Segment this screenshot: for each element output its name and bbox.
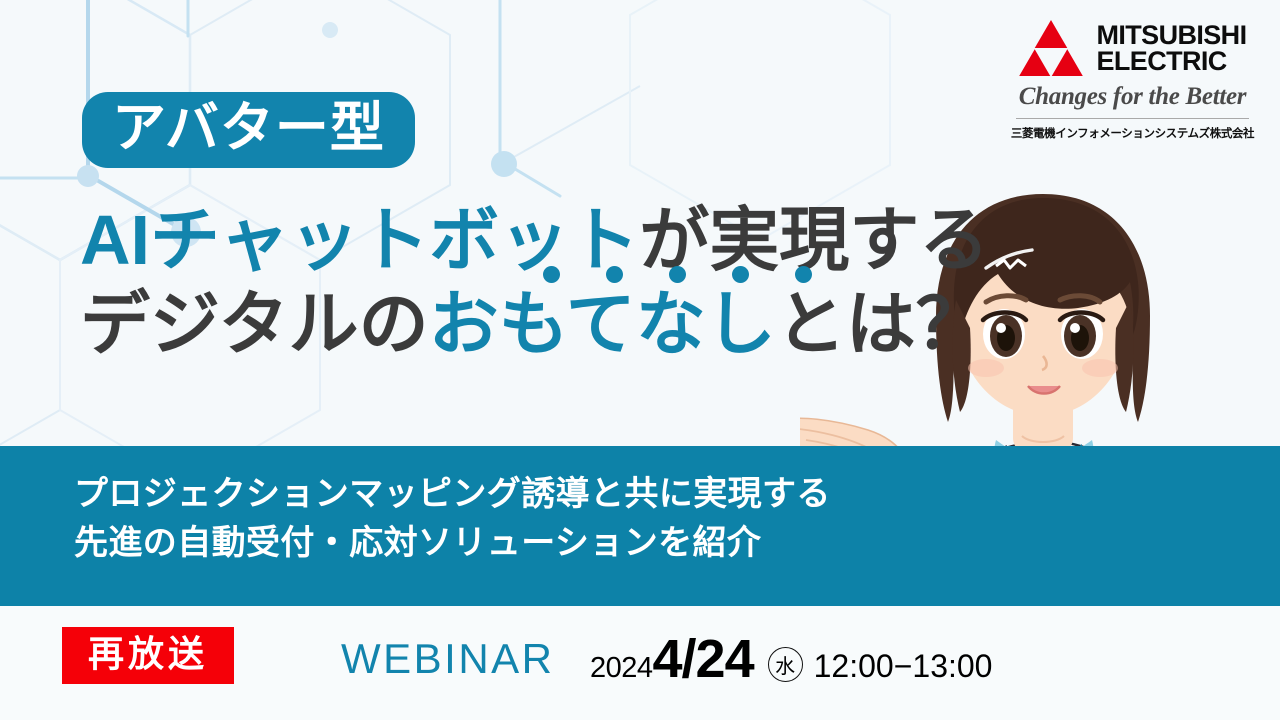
subsidiary-name: 三菱電機インフォメーションシステムズ株式会社 [1011, 125, 1254, 141]
subtitle-text-block: プロジェクションマッピング誘導と共に実現する 先進の自動受付・応対ソリューション… [74, 470, 831, 568]
logo-divider [1016, 118, 1249, 119]
event-month-day: 4/24 [653, 628, 754, 690]
headline-dark-question: とは？ [776, 285, 986, 363]
emphasis-dots [543, 266, 812, 283]
emphasis-dot [795, 266, 812, 283]
emphasis-dot [543, 266, 560, 283]
emphasis-dot [606, 266, 623, 283]
headline-accent-omotenashi: おもてなし [429, 285, 776, 363]
wordmark-line-1: MITSUBISHI [1096, 22, 1246, 48]
company-tagline: Changes for the Better [1019, 83, 1246, 111]
subtitle-line-2: 先進の自動受付・応対ソリューションを紹介 [74, 519, 831, 568]
headline-block: AIチャットボットが実現する デジタルのおもてなしとは？ [80, 205, 1000, 359]
date-time-group: 2024 4/24 水 12:00−13:00 [590, 628, 992, 690]
headline-line-2: デジタルのおもてなしとは？ [80, 289, 1000, 359]
mitsubishi-three-diamonds-icon [1018, 20, 1084, 76]
headline-dark-digital: デジタルの [80, 285, 429, 363]
emphasis-dot [732, 266, 749, 283]
mitsubishi-electric-wordmark: MITSUBISHI ELECTRIC [1096, 22, 1246, 75]
rebroadcast-badge: 再放送 [62, 627, 234, 684]
event-time-range: 12:00−13:00 [814, 648, 993, 685]
logo-mark-and-wordmark: MITSUBISHI ELECTRIC [1018, 20, 1246, 76]
avatar-type-badge: アバター型 [82, 92, 415, 168]
wordmark-line-2: ELECTRIC [1096, 48, 1246, 74]
subtitle-line-1: プロジェクションマッピング誘導と共に実現する [74, 470, 831, 519]
emphasis-dot [669, 266, 686, 283]
webinar-label: WEBINAR [341, 638, 555, 680]
event-year: 2024 [590, 652, 653, 685]
event-weekday: 水 [768, 647, 803, 682]
headline-line-1: AIチャットボットが実現する [80, 205, 1000, 275]
footer-bar: 再放送 WEBINAR 2024 4/24 水 12:00−13:00 マジ セ… [0, 606, 1280, 720]
webinar-banner: MITSUBISHI ELECTRIC Changes for the Bett… [0, 0, 1280, 720]
